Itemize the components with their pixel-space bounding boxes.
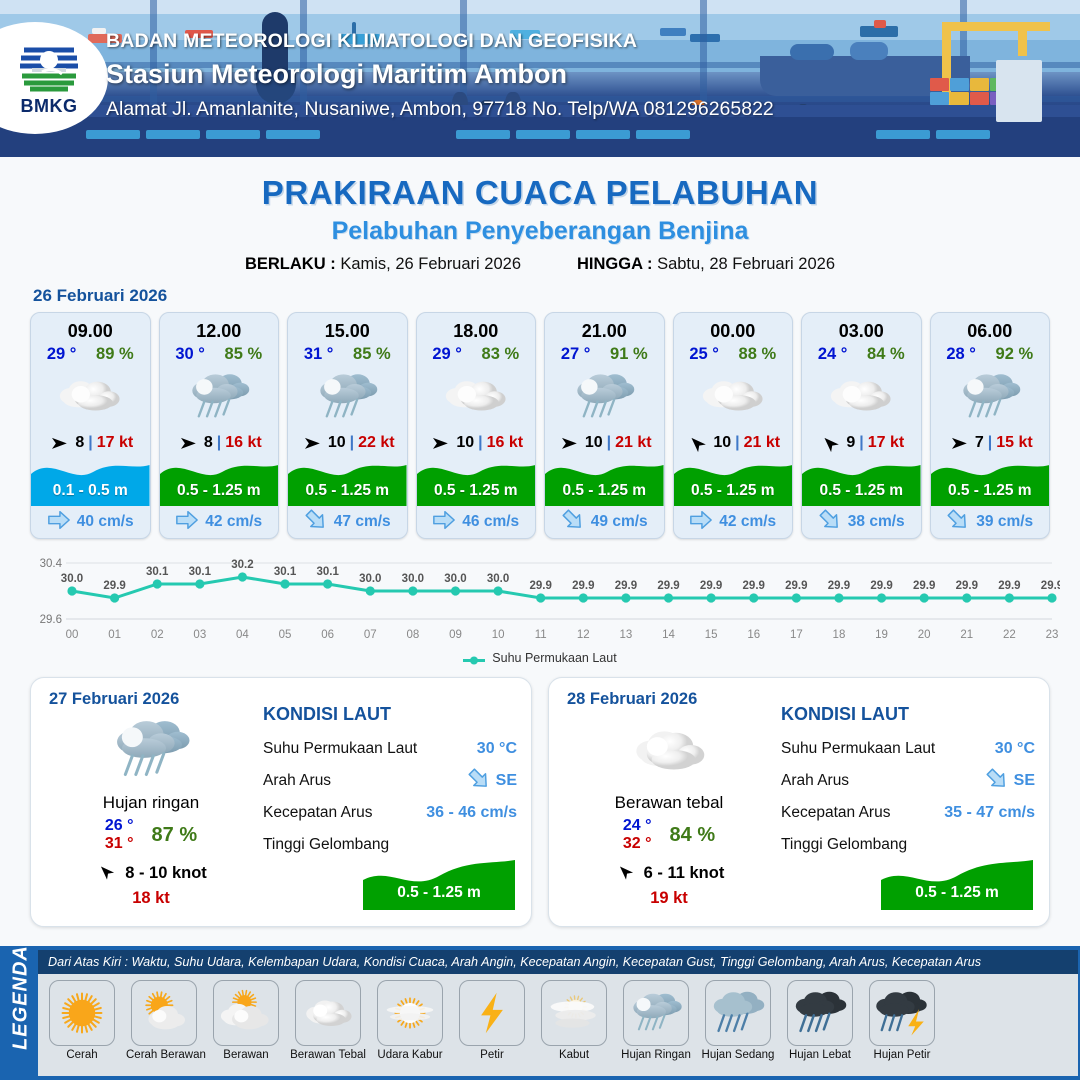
daily-condition: Hujan ringan: [45, 793, 257, 813]
svg-text:16: 16: [747, 629, 760, 641]
card-temperature: 24 °: [818, 345, 848, 364]
wind-direction-icon: [176, 434, 200, 452]
card-time: 21.00: [545, 313, 664, 344]
sst-label: Suhu Permukaan Laut: [263, 740, 417, 758]
hourly-card: 18.00 29 ° 83 % 10 | 16 kt: [416, 312, 537, 539]
card-humidity: 84 %: [867, 345, 905, 364]
valid-from-label: BERLAKU :: [245, 255, 336, 273]
current-speed: 40 cm/s: [77, 513, 134, 531]
wind-separator: |: [607, 434, 611, 452]
weather-condition-icon: [545, 366, 664, 428]
current-direction-label: Arah Arus: [781, 772, 849, 790]
current-direction-icon: [304, 508, 328, 537]
current-direction-icon: [175, 508, 199, 537]
wind-gust: 22 kt: [358, 434, 394, 452]
current-speed: 49 cm/s: [591, 513, 648, 531]
wind-gust: 16 kt: [487, 434, 523, 452]
card-humidity: 91 %: [610, 345, 648, 364]
current-direction-value: SE: [496, 772, 517, 790]
card-humidity: 88 %: [739, 345, 777, 364]
svg-text:23: 23: [1046, 629, 1059, 641]
legend-item-label: Berawan: [208, 1049, 284, 1061]
wave-height-value: 0.5 - 1.25 m: [288, 482, 407, 500]
current-speed: 47 cm/s: [334, 513, 391, 531]
svg-text:04: 04: [236, 629, 249, 641]
wave-height-band: 0.5 - 1.25 m: [417, 458, 536, 506]
daily-humidity: 84 %: [670, 824, 716, 847]
legend-item-label: Cerah Berawan: [126, 1049, 202, 1061]
wind-separator: |: [859, 434, 863, 452]
daily-wave-height-value: 0.5 - 1.25 m: [363, 884, 515, 902]
svg-text:30.1: 30.1: [274, 566, 297, 578]
wind-separator: |: [478, 434, 482, 452]
daily-weather-icon: [45, 711, 257, 789]
current-speed: 42 cm/s: [719, 513, 776, 531]
card-temperature: 28 °: [946, 345, 976, 364]
valid-until-value: Sabtu, 28 Februari 2026: [657, 255, 835, 273]
card-temperature: 29 °: [47, 345, 77, 364]
svg-text:14: 14: [662, 629, 675, 641]
page-title: PRAKIRAAN CUACA PELABUHAN: [0, 174, 1080, 212]
current-direction-icon: [689, 508, 713, 537]
daily-forecast-panels: 27 Februari 2026 Hujan ringan: [0, 665, 1080, 927]
svg-text:17: 17: [790, 629, 803, 641]
daily-wave-height-band: 0.5 - 1.25 m: [363, 854, 515, 910]
hourly-day-label: 26 Februari 2026: [33, 286, 1080, 306]
svg-text:29.9: 29.9: [743, 580, 765, 592]
svg-text:30.1: 30.1: [316, 566, 339, 578]
daily-temp-min: 26 °: [105, 817, 134, 835]
svg-text:29.9: 29.9: [785, 580, 807, 592]
legend-item-label: Udara Kabur: [372, 1049, 448, 1061]
wind-separator: |: [350, 434, 354, 452]
agency-name: BADAN METEOROLOGI KLIMATOLOGI DAN GEOFIS…: [106, 30, 774, 53]
wind-gust: 16 kt: [225, 434, 261, 452]
hourly-card: 00.00 25 ° 88 % 10 | 21 kt: [673, 312, 794, 539]
daily-condition: Berawan tebal: [563, 793, 775, 813]
legend-icon-cerah-berawan: [131, 980, 197, 1046]
current-speed: 39 cm/s: [976, 513, 1033, 531]
legend-items: Cerah Cerah Berawan Berawan: [38, 974, 1078, 1061]
current-direction-icon: [946, 508, 970, 537]
daily-humidity: 87 %: [152, 824, 198, 847]
svg-text:00: 00: [66, 629, 79, 641]
wave-height-band: 0.5 - 1.25 m: [674, 458, 793, 506]
current-direction-icon: [432, 508, 456, 537]
svg-text:09: 09: [449, 629, 462, 641]
svg-text:18: 18: [833, 629, 846, 641]
svg-text:08: 08: [406, 629, 419, 641]
legend-item: Cerah Berawan: [126, 980, 202, 1061]
daily-date: 27 Februari 2026: [49, 690, 257, 709]
current-speed-value: 35 - 47 cm/s: [944, 804, 1035, 822]
svg-text:21: 21: [960, 629, 973, 641]
daily-temp-max: 32 °: [623, 835, 652, 853]
wave-height-band: 0.5 - 1.25 m: [288, 458, 407, 506]
legend-icon-berawan-tebal: [295, 980, 361, 1046]
svg-text:06: 06: [321, 629, 334, 641]
weather-condition-icon: [417, 366, 536, 428]
daily-temp-min: 24 °: [623, 817, 652, 835]
daily-current-direction-icon: [467, 767, 491, 796]
wind-direction-icon: [428, 434, 452, 452]
hourly-forecast-cards: 09.00 29 ° 89 % 8 | 17 kt: [0, 312, 1080, 539]
wave-height-value: 0.5 - 1.25 m: [160, 482, 279, 500]
wind-separator: |: [988, 434, 992, 452]
current-direction-value: SE: [1014, 772, 1035, 790]
wind-gust: 15 kt: [996, 434, 1032, 452]
weather-condition-icon: [931, 366, 1050, 428]
wind-separator: |: [735, 434, 739, 452]
current-direction-icon: [818, 508, 842, 537]
wind-gust: 17 kt: [868, 434, 904, 452]
wind-speed: 8: [75, 434, 84, 452]
station-name: Stasiun Meteorologi Maritim Ambon: [106, 59, 774, 90]
legend-item: Udara Kabur: [372, 980, 448, 1061]
svg-text:29.9: 29.9: [998, 580, 1020, 592]
daily-wind-range: 8 - 10 knot: [125, 864, 207, 883]
svg-text:22: 22: [1003, 629, 1016, 641]
card-temperature: 29 °: [432, 345, 462, 364]
wave-height-value: 0.5 - 1.25 m: [674, 482, 793, 500]
card-temperature: 27 °: [561, 345, 591, 364]
svg-text:30.2: 30.2: [231, 559, 253, 571]
wind-separator: |: [217, 434, 221, 452]
svg-text:29.9: 29.9: [572, 580, 594, 592]
wind-speed: 10: [456, 434, 474, 452]
station-address: Alamat Jl. Amanlanite, Nusaniwe, Ambon, …: [106, 98, 774, 121]
wave-height-value: 0.5 - 1.25 m: [545, 482, 664, 500]
daily-wind-gust: 19 kt: [563, 889, 775, 908]
wind-speed: 7: [975, 434, 984, 452]
current-direction-icon: [561, 508, 585, 537]
valid-until: HINGGA : Sabtu, 28 Februari 2026: [577, 255, 835, 274]
wind-speed: 10: [328, 434, 346, 452]
sea-condition-title: KONDISI LAUT: [263, 704, 517, 725]
legend-item: Hujan Petir: [864, 980, 940, 1061]
weather-condition-icon: [160, 366, 279, 428]
wind-speed: 10: [585, 434, 603, 452]
card-humidity: 92 %: [996, 345, 1034, 364]
daily-forecast-panel: 28 Februari 2026 Berawan tebal 24 ° 32 °…: [548, 677, 1050, 927]
svg-text:15: 15: [705, 629, 718, 641]
svg-text:30.0: 30.0: [444, 573, 466, 585]
card-time: 09.00: [31, 313, 150, 344]
legend-icon-kabut: [541, 980, 607, 1046]
current-speed-value: 36 - 46 cm/s: [426, 804, 517, 822]
wave-height-value: 0.5 - 1.25 m: [802, 482, 921, 500]
svg-text:29.9: 29.9: [700, 580, 722, 592]
wind-gust: 17 kt: [97, 434, 133, 452]
svg-text:29.9: 29.9: [828, 580, 850, 592]
current-speed: 38 cm/s: [848, 513, 905, 531]
wind-direction-icon: [685, 434, 709, 452]
legend-icon-udara-kabur: [377, 980, 443, 1046]
sst-legend-marker: [463, 654, 485, 663]
sea-condition-title: KONDISI LAUT: [781, 704, 1035, 725]
card-temperature: 30 °: [175, 345, 205, 364]
wind-separator: |: [88, 434, 92, 452]
legend-item: Berawan Tebal: [290, 980, 366, 1061]
sst-chart-legend: Suhu Permukaan Laut: [0, 651, 1080, 665]
wind-direction-icon: [557, 434, 581, 452]
svg-text:30.0: 30.0: [61, 573, 83, 585]
current-speed: 42 cm/s: [205, 513, 262, 531]
legend-item: Hujan Sedang: [700, 980, 776, 1061]
svg-text:01: 01: [108, 629, 121, 641]
hourly-card: 09.00 29 ° 89 % 8 | 17 kt: [30, 312, 151, 539]
wave-height-label: Tinggi Gelombang: [781, 836, 907, 854]
card-temperature: 25 °: [689, 345, 719, 364]
sst-chart: 30.429.630.029.930.130.130.230.130.130.0…: [20, 549, 1060, 649]
legend-item-label: Cerah: [44, 1049, 120, 1061]
legend-item-label: Kabut: [536, 1049, 612, 1061]
card-time: 06.00: [931, 313, 1050, 344]
legend-item: Berawan: [208, 980, 284, 1061]
hourly-card: 15.00 31 ° 85 %: [287, 312, 408, 539]
daily-wind-direction-icon: [614, 863, 636, 885]
card-time: 15.00: [288, 313, 407, 344]
weather-condition-icon: [31, 366, 150, 428]
daily-wave-height-band: 0.5 - 1.25 m: [881, 854, 1033, 910]
svg-text:29.9: 29.9: [1041, 580, 1060, 592]
svg-text:20: 20: [918, 629, 931, 641]
svg-text:29.9: 29.9: [103, 580, 125, 592]
svg-text:11: 11: [535, 629, 547, 641]
card-time: 12.00: [160, 313, 279, 344]
legend-note: Dari Atas Kiri : Waktu, Suhu Udara, Kele…: [38, 950, 1078, 974]
svg-text:30.4: 30.4: [40, 558, 63, 570]
svg-text:29.9: 29.9: [615, 580, 637, 592]
legend-item-label: Berawan Tebal: [290, 1049, 366, 1061]
hourly-card: 03.00 24 ° 84 % 9 | 17 kt: [801, 312, 922, 539]
wind-direction-icon: [947, 434, 971, 452]
daily-date: 28 Februari 2026: [567, 690, 775, 709]
legend-icon-petir: [459, 980, 525, 1046]
svg-text:03: 03: [193, 629, 206, 641]
legend-icon-hujan-petir: [869, 980, 935, 1046]
daily-forecast-panel: 27 Februari 2026 Hujan ringan: [30, 677, 532, 927]
current-speed-label: Kecepatan Arus: [781, 804, 890, 822]
legend-item: Hujan Lebat: [782, 980, 858, 1061]
legend-item: Kabut: [536, 980, 612, 1061]
daily-weather-icon: [563, 711, 775, 789]
valid-from: BERLAKU : Kamis, 26 Februari 2026: [245, 255, 521, 274]
svg-text:29.9: 29.9: [870, 580, 892, 592]
legend-item-label: Hujan Sedang: [700, 1049, 776, 1061]
weather-condition-icon: [288, 366, 407, 428]
weather-condition-icon: [674, 366, 793, 428]
legend-item-label: Hujan Ringan: [618, 1049, 694, 1061]
wave-height-band: 0.5 - 1.25 m: [802, 458, 921, 506]
svg-text:19: 19: [875, 629, 888, 641]
svg-text:30.0: 30.0: [402, 573, 424, 585]
svg-text:12: 12: [577, 629, 590, 641]
page-subtitle: Pelabuhan Penyeberangan Benjina: [0, 217, 1080, 246]
wave-height-band: 0.5 - 1.25 m: [931, 458, 1050, 506]
legend-item: Cerah: [44, 980, 120, 1061]
svg-text:29.6: 29.6: [40, 614, 62, 626]
legend-icon-berawan-legend: [213, 980, 279, 1046]
page-header: BMKG BADAN METEOROLOGI KLIMATOLOGI DAN G…: [0, 0, 1080, 157]
wind-speed: 10: [713, 434, 731, 452]
wave-height-value: 0.5 - 1.25 m: [931, 482, 1050, 500]
valid-from-value: Kamis, 26 Februari 2026: [340, 255, 521, 273]
wind-direction-icon: [47, 434, 71, 452]
valid-until-label: HINGGA :: [577, 255, 652, 273]
daily-wind-gust: 18 kt: [45, 889, 257, 908]
legend-icon-cerah: [49, 980, 115, 1046]
legenda-side: LEGENDA: [0, 946, 38, 1080]
daily-wind-range: 6 - 11 knot: [644, 864, 725, 883]
current-direction-icon: [47, 508, 71, 537]
legend-item-label: Hujan Lebat: [782, 1049, 858, 1061]
legend-item-label: Hujan Petir: [864, 1049, 940, 1061]
daily-wave-height-value: 0.5 - 1.25 m: [881, 884, 1033, 902]
hourly-card: 12.00 30 ° 85 %: [159, 312, 280, 539]
svg-text:13: 13: [620, 629, 633, 641]
bmkg-logo-text: BMKG: [8, 96, 90, 117]
svg-text:02: 02: [151, 629, 164, 641]
legend-item: Hujan Ringan: [618, 980, 694, 1061]
legend-icon-hujan-ringan: [623, 980, 689, 1046]
wind-speed: 8: [204, 434, 213, 452]
wave-height-band: 0.1 - 0.5 m: [31, 458, 150, 506]
card-temperature: 31 °: [304, 345, 334, 364]
daily-current-direction-icon: [985, 767, 1009, 796]
daily-temp-max: 31 °: [105, 835, 134, 853]
svg-text:30.0: 30.0: [487, 573, 509, 585]
svg-text:29.9: 29.9: [913, 580, 935, 592]
sst-value: 30 °C: [477, 740, 517, 758]
svg-text:30.1: 30.1: [146, 566, 169, 578]
wave-height-value: 0.5 - 1.25 m: [417, 482, 536, 500]
svg-text:07: 07: [364, 629, 377, 641]
current-speed-label: Kecepatan Arus: [263, 804, 372, 822]
wind-speed: 9: [846, 434, 855, 452]
wind-direction-icon: [300, 434, 324, 452]
svg-text:05: 05: [279, 629, 292, 641]
legend-icon-hujan-lebat: [787, 980, 853, 1046]
card-time: 00.00: [674, 313, 793, 344]
svg-text:29.9: 29.9: [530, 580, 552, 592]
legend-icon-hujan-sedang: [705, 980, 771, 1046]
card-time: 03.00: [802, 313, 921, 344]
legenda-label: LEGENDA: [10, 943, 33, 1053]
current-speed: 46 cm/s: [462, 513, 519, 531]
svg-text:29.9: 29.9: [956, 580, 978, 592]
current-direction-label: Arah Arus: [263, 772, 331, 790]
wave-height-band: 0.5 - 1.25 m: [545, 458, 664, 506]
card-humidity: 89 %: [96, 345, 134, 364]
card-time: 18.00: [417, 313, 536, 344]
wind-direction-icon: [818, 434, 842, 452]
wave-height-value: 0.1 - 0.5 m: [31, 482, 150, 500]
hourly-card: 06.00 28 ° 92 %: [930, 312, 1051, 539]
legend-body: Dari Atas Kiri : Waktu, Suhu Udara, Kele…: [38, 950, 1078, 1076]
wind-gust: 21 kt: [744, 434, 780, 452]
legend-item-label: Petir: [454, 1049, 530, 1061]
card-humidity: 85 %: [225, 345, 263, 364]
legend-item: Petir: [454, 980, 530, 1061]
svg-text:29.9: 29.9: [657, 580, 679, 592]
sst-label: Suhu Permukaan Laut: [781, 740, 935, 758]
wind-gust: 21 kt: [615, 434, 651, 452]
svg-text:30.1: 30.1: [189, 566, 212, 578]
weather-condition-icon: [802, 366, 921, 428]
card-humidity: 85 %: [353, 345, 391, 364]
svg-text:10: 10: [492, 629, 505, 641]
hourly-card: 21.00 27 ° 91 %: [544, 312, 665, 539]
legend-bar: LEGENDA Dari Atas Kiri : Waktu, Suhu Uda…: [0, 946, 1080, 1080]
sst-value: 30 °C: [995, 740, 1035, 758]
bmkg-logo-mark: [18, 32, 80, 94]
wave-height-band: 0.5 - 1.25 m: [160, 458, 279, 506]
card-humidity: 83 %: [482, 345, 520, 364]
sst-legend-label: Suhu Permukaan Laut: [492, 651, 616, 665]
wave-height-label: Tinggi Gelombang: [263, 836, 389, 854]
daily-wind-direction-icon: [95, 863, 117, 885]
validity-row: BERLAKU : Kamis, 26 Februari 2026 HINGGA…: [0, 255, 1080, 274]
svg-text:30.0: 30.0: [359, 573, 381, 585]
